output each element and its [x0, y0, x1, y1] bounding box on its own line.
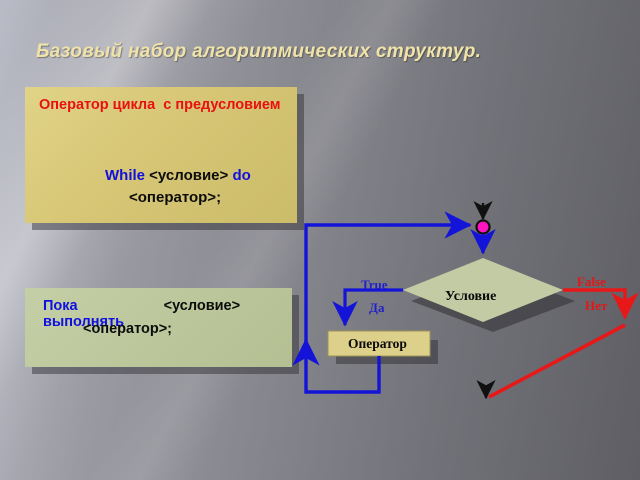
flowchart: True Да False Нет Условие Оператор	[0, 0, 640, 480]
process-label: Оператор	[348, 336, 407, 352]
flowchart-svg	[0, 0, 640, 480]
false-branch-path-diagonal	[489, 325, 625, 397]
true-label-ru: Да	[369, 300, 384, 316]
decision-label: Условие	[445, 289, 496, 305]
slide-canvas: Базовый набор алгоритмических структур. …	[0, 0, 640, 480]
junction-node-icon[interactable]	[477, 221, 490, 234]
true-label-en: True	[361, 277, 387, 293]
false-label-ru: Нет	[585, 298, 607, 314]
false-label-en: False	[577, 274, 606, 290]
